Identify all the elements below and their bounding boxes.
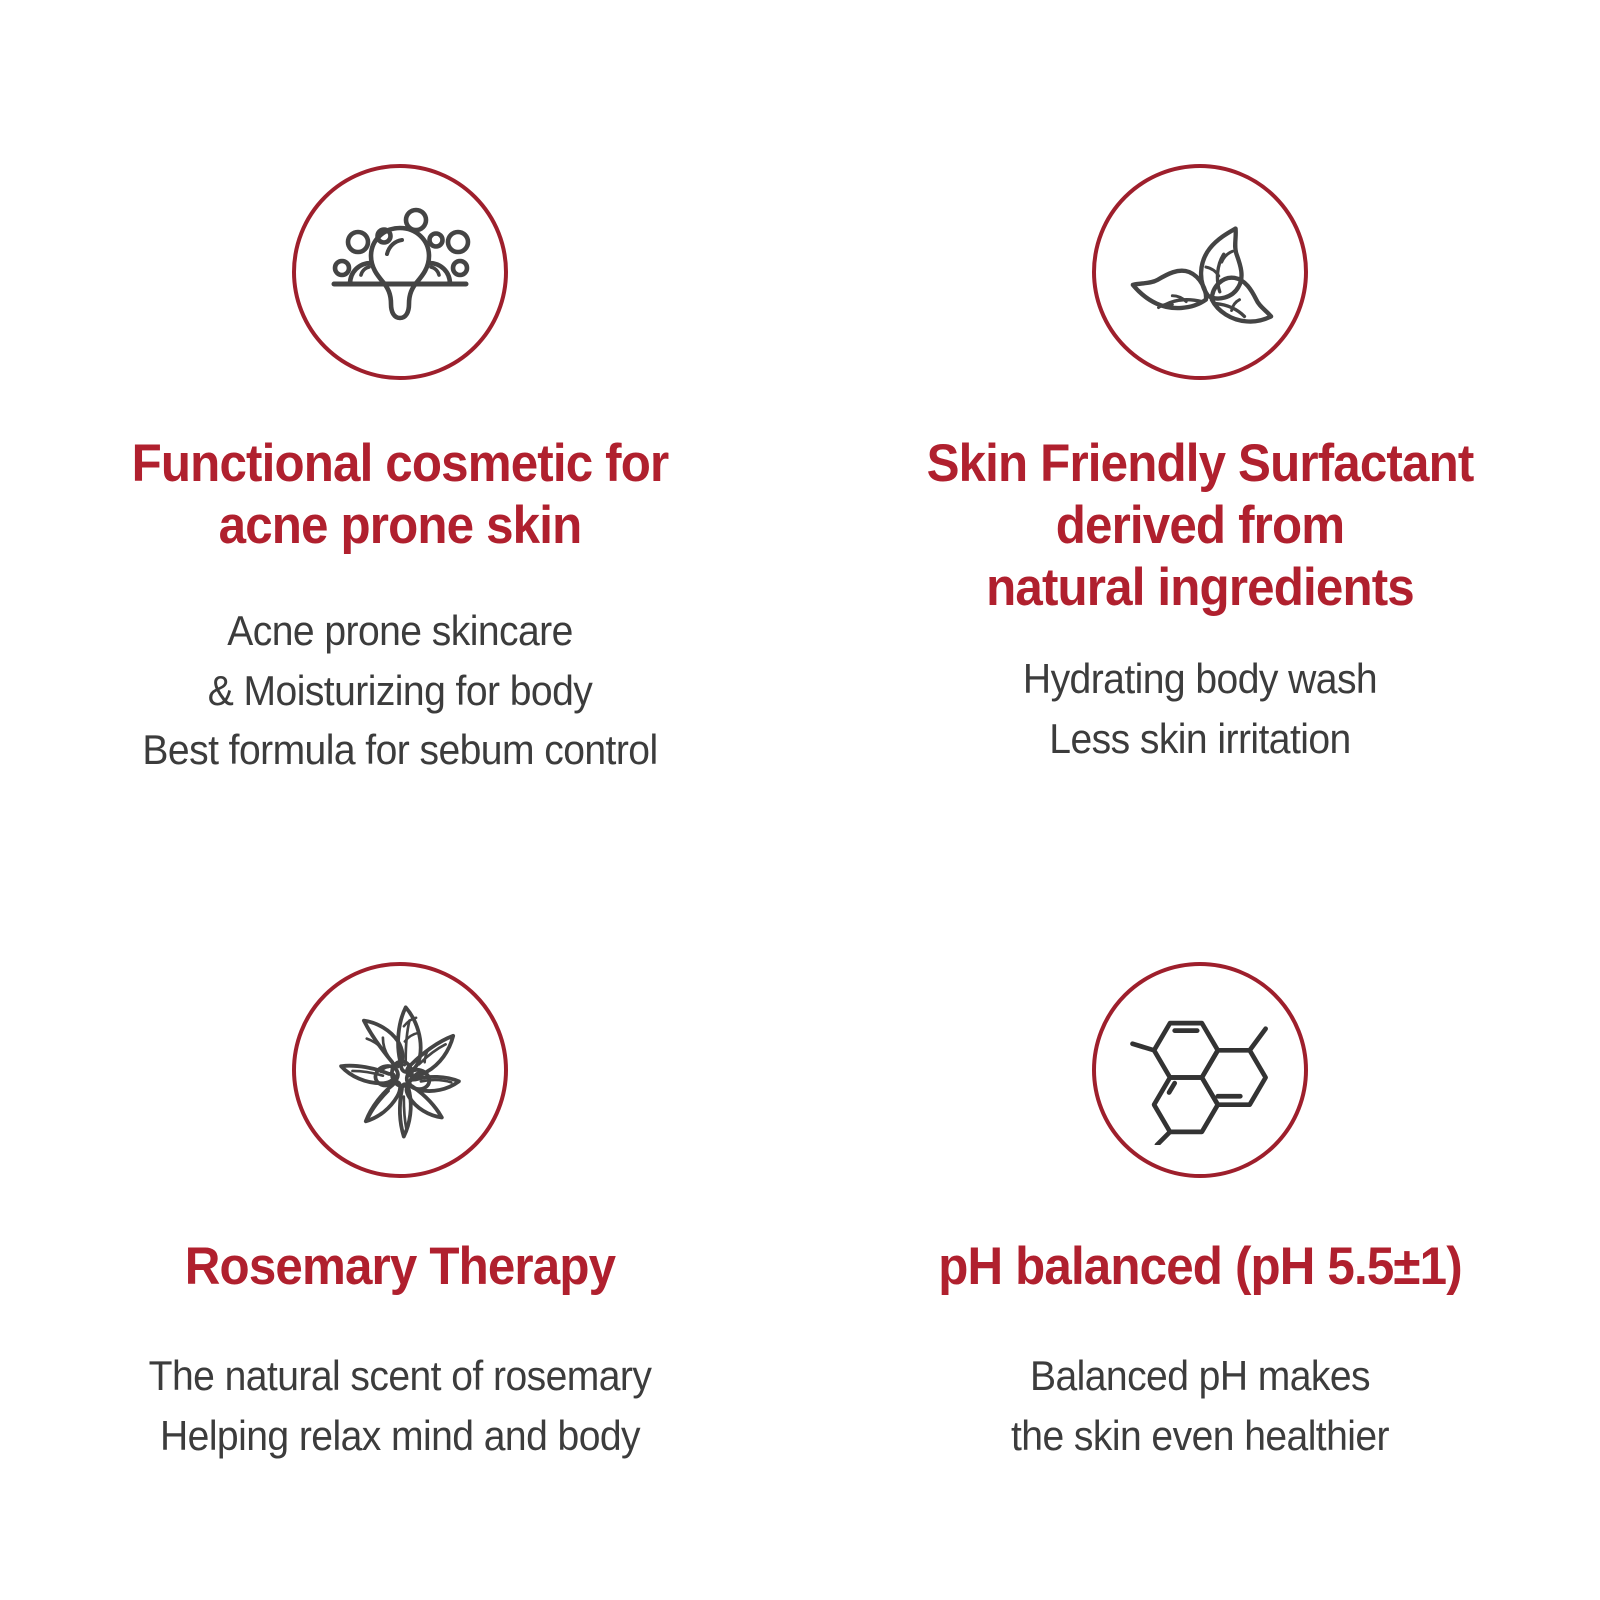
feature-card-ph: pH balanced (pH 5.5±1) Balanced pH makes… <box>800 800 1600 1600</box>
molecule-rings-icon <box>1092 962 1308 1178</box>
feature-description: Hydrating body wash Less skin irritation <box>847 649 1554 768</box>
feature-description: The natural scent of rosemary Helping re… <box>47 1346 754 1465</box>
sebum-pore-icon <box>292 164 508 380</box>
feature-description: Balanced pH makes the skin even healthie… <box>847 1346 1554 1465</box>
feature-card-surfactant: Skin Friendly Surfactant derived from na… <box>800 0 1600 800</box>
feature-description: Acne prone skincare & Moisturizing for b… <box>47 601 754 780</box>
rosemary-sprig-icon <box>292 962 508 1178</box>
feature-card-rosemary: Rosemary Therapy The natural scent of ro… <box>0 800 800 1600</box>
feature-heading: pH balanced (pH 5.5±1) <box>847 1236 1554 1298</box>
feature-heading: Skin Friendly Surfactant derived from na… <box>847 433 1554 619</box>
feature-infographic: Functional cosmetic for acne prone skin … <box>0 0 1600 1600</box>
feature-card-acne: Functional cosmetic for acne prone skin … <box>0 0 800 800</box>
feature-heading: Rosemary Therapy <box>47 1236 754 1298</box>
three-leaves-icon <box>1092 164 1308 380</box>
feature-heading: Functional cosmetic for acne prone skin <box>47 433 754 557</box>
